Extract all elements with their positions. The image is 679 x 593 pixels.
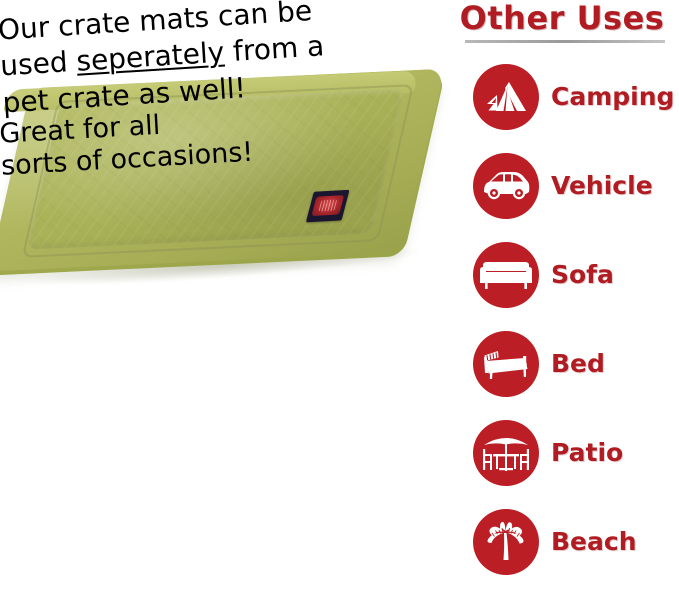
use-item-bed: Bed: [445, 319, 679, 408]
sofa-badge: [473, 242, 539, 308]
use-label-sofa: Sofa: [551, 260, 614, 289]
use-item-patio: Patio: [445, 408, 679, 497]
uses-list: Camping Vehicle: [445, 52, 679, 586]
other-uses-panel: Other Uses Camping: [445, 0, 679, 593]
camping-badge: [473, 64, 539, 130]
use-item-beach: Beach: [445, 497, 679, 586]
bed-icon: [481, 346, 531, 382]
use-label-patio: Patio: [551, 438, 623, 467]
use-label-beach: Beach: [551, 527, 637, 556]
slogan-one-underlined-word: seperately: [75, 36, 225, 78]
beach-badge: [473, 509, 539, 575]
use-label-bed: Bed: [551, 349, 605, 378]
vehicle-badge: [473, 153, 539, 219]
palm-tree-icon: [482, 519, 530, 565]
tent-icon: [483, 77, 529, 117]
patio-umbrella-icon: [479, 432, 533, 474]
bed-badge: [473, 331, 539, 397]
slogan-one-line2-post: from a: [223, 30, 325, 69]
use-item-camping: Camping: [445, 52, 679, 141]
title-divider: [465, 40, 665, 43]
use-label-vehicle: Vehicle: [551, 171, 653, 200]
patio-badge: [473, 420, 539, 486]
use-label-camping: Camping: [551, 82, 674, 111]
product-panel: Our crate mats can be used seperately fr…: [0, 0, 445, 593]
slogan-one-line2-pre: used: [0, 45, 77, 83]
brand-tag-logo-icon: [311, 195, 344, 216]
use-item-sofa: Sofa: [445, 230, 679, 319]
use-item-vehicle: Vehicle: [445, 141, 679, 230]
other-uses-heading: Other Uses: [445, 0, 679, 37]
sofa-icon: [479, 258, 533, 292]
car-icon: [481, 169, 531, 203]
